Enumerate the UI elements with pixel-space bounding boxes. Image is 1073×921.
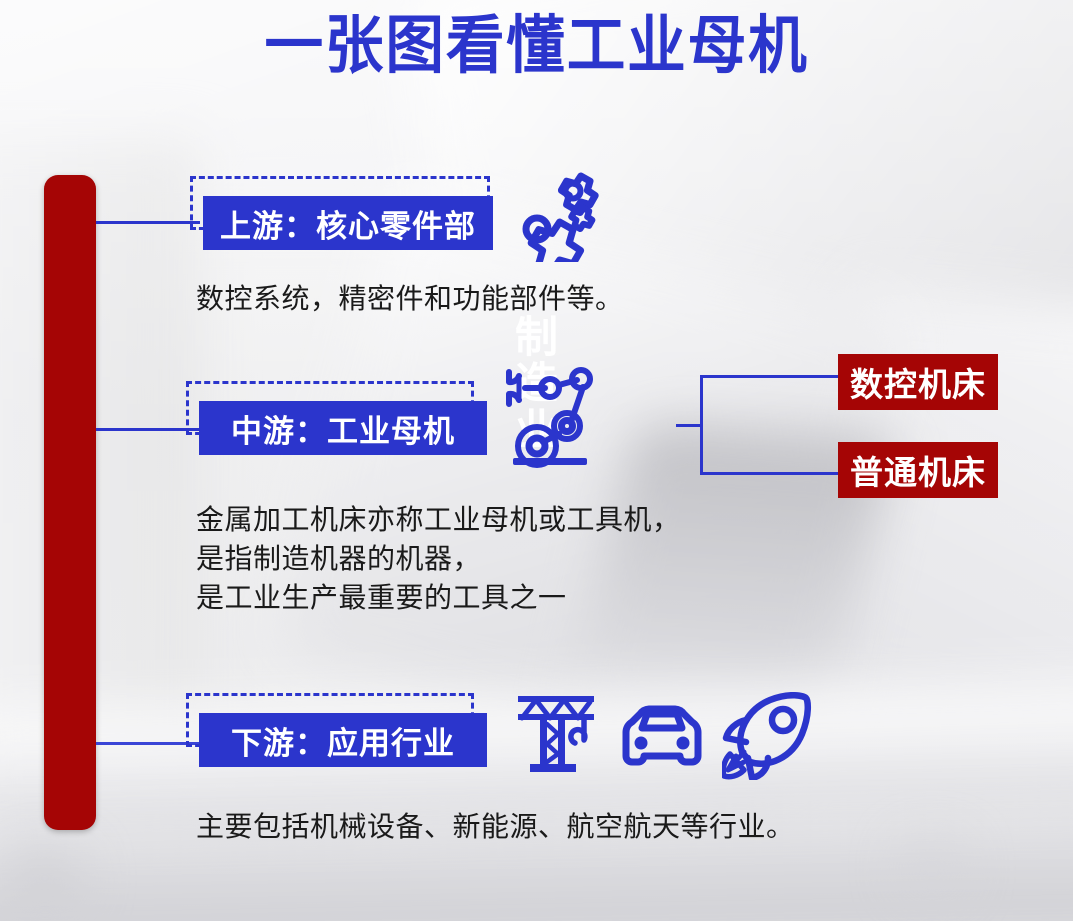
connector-downstream <box>96 742 200 745</box>
connector-midstream <box>96 428 200 431</box>
manufacturing-spine-bar <box>44 175 96 830</box>
branch-bracket <box>700 375 840 475</box>
stage-description-upstream: 数控系统，精密件和功能部件等。 <box>196 279 624 318</box>
page-title: 一张图看懂工业母机 <box>38 14 1036 77</box>
stage-description-downstream: 主要包括机械设备、新能源、航空航天等行业。 <box>196 807 795 846</box>
connector-upstream <box>96 221 200 224</box>
stage-chip-midstream[interactable]: 中游：工业母机 <box>199 401 487 455</box>
gears-icon <box>505 166 605 267</box>
stage-chip-downstream[interactable]: 下游：应用行业 <box>199 713 487 767</box>
branch-stub <box>676 424 702 427</box>
infographic-canvas: 一张图看懂工业母机 制 造 业 上游：核心零件部 数控系统，精密件和功能部件等。… <box>0 0 1073 921</box>
stage-description-midstream: 金属加工机床亦称工业母机或工具机， 是指制造机器的机器， 是工业生产最重要的工具… <box>196 500 681 617</box>
robot-arm-icon <box>497 360 601 473</box>
branch-box-regular-machine[interactable]: 普通机床 <box>838 442 998 498</box>
branch-box-cnc-machine[interactable]: 数控机床 <box>838 354 998 410</box>
crane-icon <box>512 692 600 781</box>
car-icon <box>616 700 708 777</box>
rocket-icon <box>722 692 818 785</box>
stage-chip-upstream[interactable]: 上游：核心零件部 <box>203 196 493 250</box>
